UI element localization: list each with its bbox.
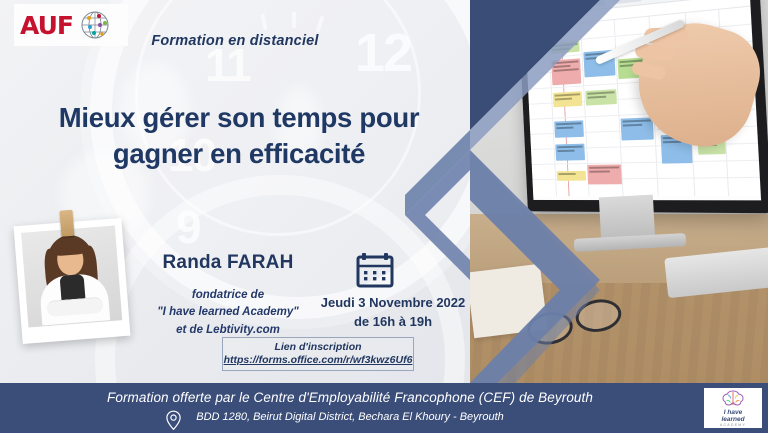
footer-organizer: Formation offerte par le Centre d'Employ…: [0, 390, 700, 405]
speaker-role-line-1: fondatrice de: [132, 287, 324, 304]
speaker-photo: [14, 218, 131, 344]
registration-box: Lien d'inscription https://forms.office.…: [222, 337, 414, 371]
event-time: de 16h à 19h: [318, 313, 468, 332]
event-date: Jeudi 3 Novembre 2022: [318, 294, 468, 313]
avatar: [21, 225, 122, 327]
partner-logo-line-2: learned: [721, 416, 744, 423]
i-have-learned-logo: I have learned ACADEMY: [704, 388, 762, 428]
title-line-2: gagner en efficacité: [14, 136, 464, 172]
event-date-time: Jeudi 3 Novembre 2022 de 16h à 19h: [318, 294, 468, 332]
partner-logo-text: I have learned: [721, 410, 744, 424]
footer-address: BDD 1280, Beirut Digital District, Becha…: [0, 411, 700, 423]
registration-label: Lien d'inscription: [274, 341, 361, 354]
tagline: Formation en distanciel: [0, 33, 470, 49]
wooden-clip-icon: [59, 210, 74, 237]
clock-numeral-12: 12: [355, 22, 411, 84]
speaker-role-line-2: "I have learned Academy": [132, 304, 324, 321]
desk-monitor-photo: [470, 0, 768, 383]
event-flyer: 12 11 10 9: [0, 0, 768, 433]
brain-icon: [720, 389, 746, 409]
registration-link[interactable]: https://forms.office.com/r/wf3kwz6Uf6: [224, 354, 413, 368]
clock-numeral-9: 9: [176, 200, 200, 254]
calendar-icon: [356, 252, 394, 288]
speaker-role: fondatrice de "I have learned Academy" e…: [132, 287, 324, 339]
partner-logo-sub: ACADEMY: [720, 423, 746, 427]
title-line-1: Mieux gérer son temps pour: [14, 100, 464, 136]
page-title: Mieux gérer son temps pour gagner en eff…: [14, 100, 464, 172]
speaker-name: Randa FARAH: [132, 252, 324, 274]
footer-bar: Formation offerte par le Centre d'Employ…: [0, 383, 768, 433]
